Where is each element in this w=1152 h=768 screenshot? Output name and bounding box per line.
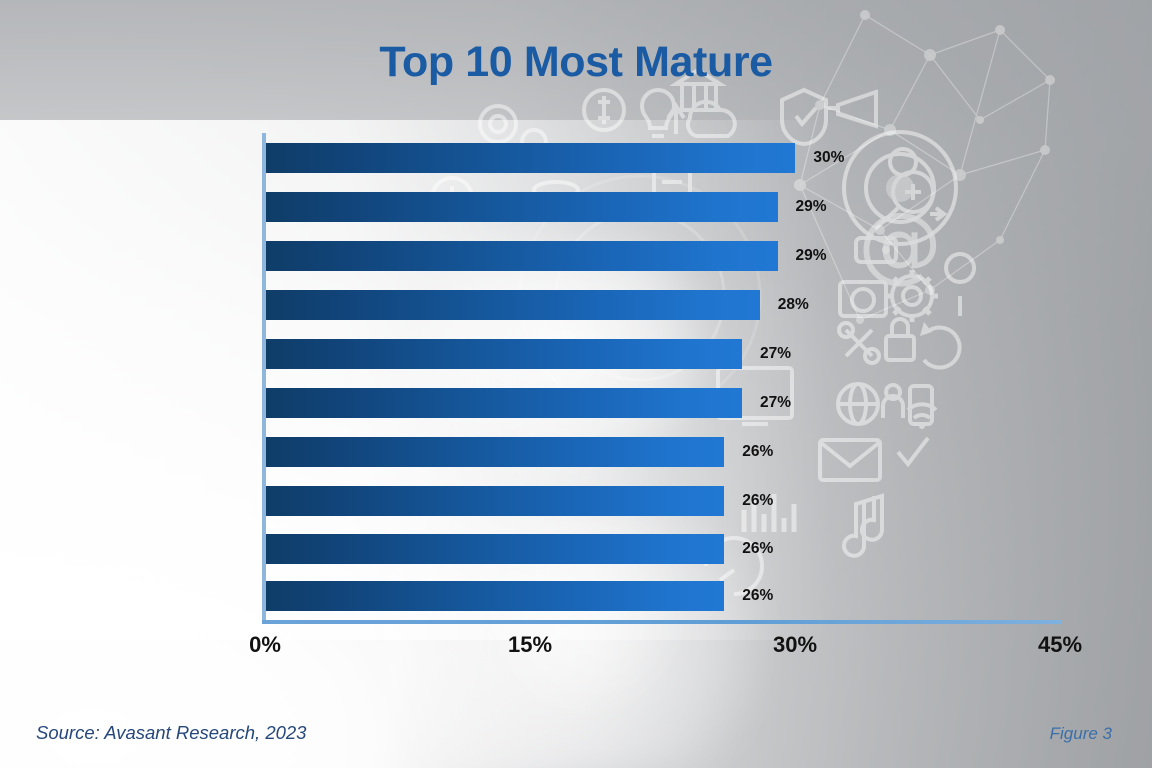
figure-label: Figure 3 — [1050, 724, 1112, 744]
x-tick-label: 30% — [735, 632, 855, 658]
x-axis-line — [262, 620, 1062, 624]
bar[interactable] — [266, 290, 760, 320]
bar-value-label: 27% — [760, 388, 791, 418]
bar-value-label: 27% — [760, 339, 791, 369]
source-note: Source: Avasant Research, 2023 — [36, 722, 306, 744]
bar[interactable] — [266, 437, 724, 467]
bar-value-label: 26% — [742, 534, 773, 564]
bar[interactable] — [266, 192, 778, 222]
bar[interactable] — [266, 388, 742, 418]
bar-value-label: 29% — [796, 192, 827, 222]
x-tick-label: 0% — [205, 632, 325, 658]
bar[interactable] — [266, 241, 778, 271]
chart-slide: @ Top 10 Most Mature Enterprise architec… — [0, 0, 1152, 768]
bar-value-label: 26% — [742, 581, 773, 611]
plot-area: Enterprise architecture 30% IT project p… — [0, 0, 1152, 768]
bar-value-label: 26% — [742, 486, 773, 516]
bar[interactable] — [266, 534, 724, 564]
x-tick-label: 15% — [470, 632, 590, 658]
x-tick-label: 45% — [1000, 632, 1120, 658]
bar-value-label: 28% — [778, 290, 809, 320]
bar[interactable] — [266, 581, 724, 611]
bar-value-label: 30% — [813, 143, 844, 173]
bar[interactable] — [266, 486, 724, 516]
bar[interactable] — [266, 143, 795, 173]
bar-value-label: 29% — [796, 241, 827, 271]
bar-value-label: 26% — [742, 437, 773, 467]
bar[interactable] — [266, 339, 742, 369]
